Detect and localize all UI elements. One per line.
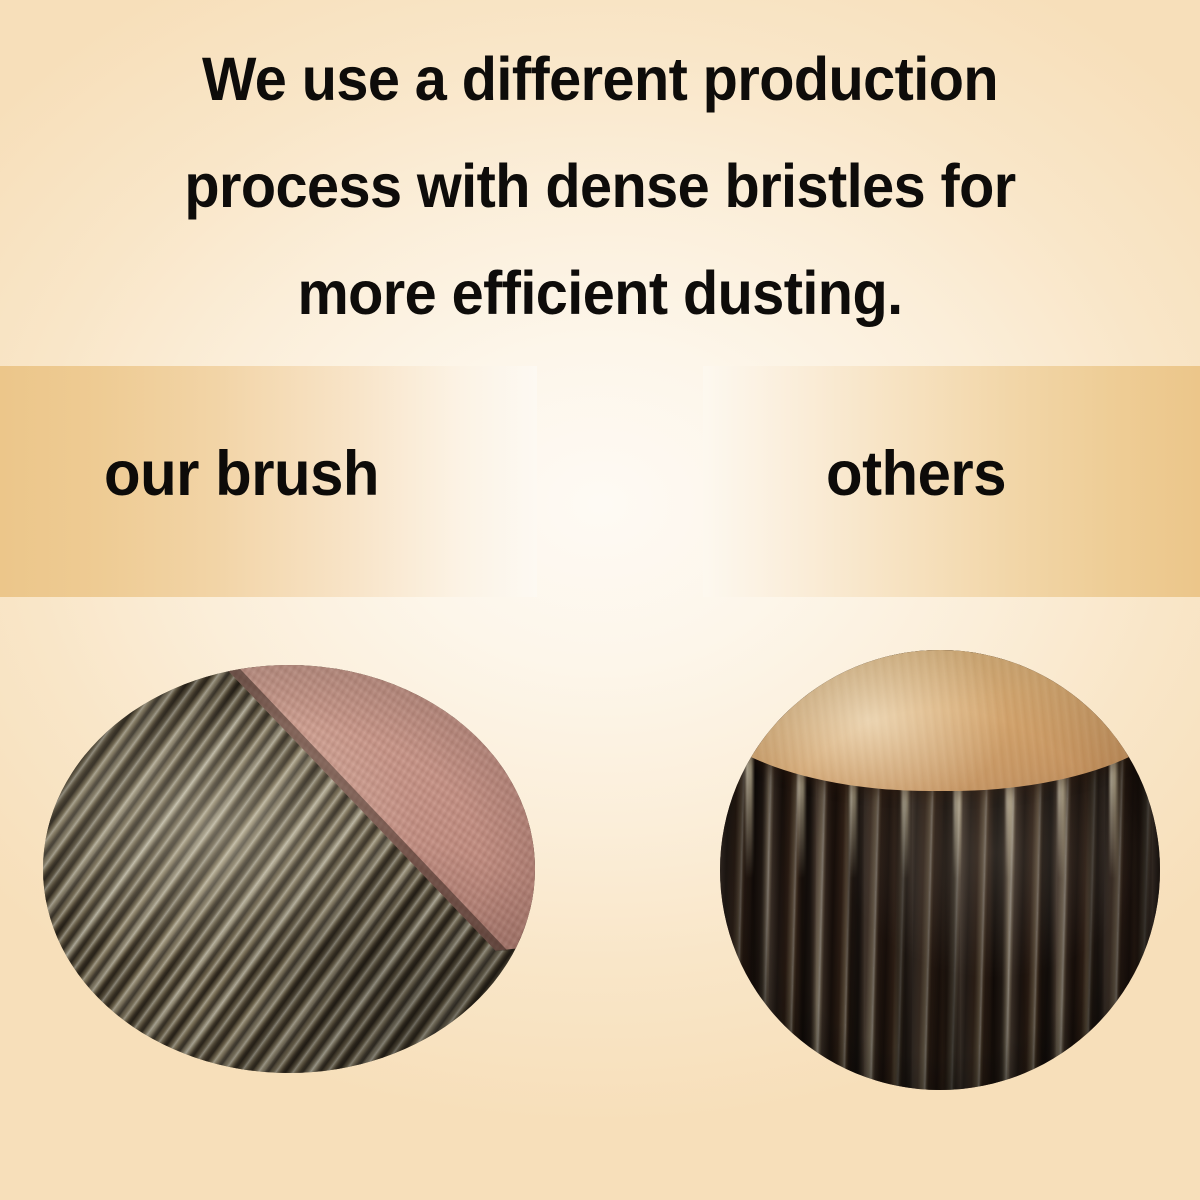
our-brush-photo <box>43 665 535 1073</box>
headline-line-1: We use a different production <box>33 26 1167 133</box>
column-label-others: others <box>826 443 1006 506</box>
headline-block: We use a different production process wi… <box>0 26 1200 347</box>
headline-line-3: more efficient dusting. <box>33 240 1167 347</box>
column-label-our-brush: our brush <box>104 443 379 506</box>
others-wooden-base <box>720 650 1160 791</box>
infographic-canvas: We use a different production process wi… <box>0 0 1200 1200</box>
others-photo <box>720 650 1160 1090</box>
headline-line-2: process with dense bristles for <box>33 133 1167 240</box>
our-brush-lighting-overlay <box>43 665 535 1073</box>
